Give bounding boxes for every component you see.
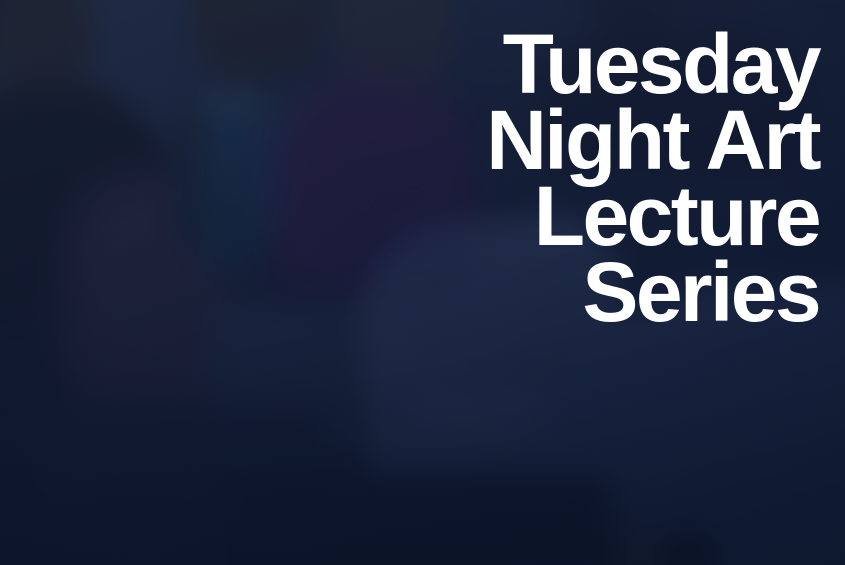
banner-headline: Tuesday Night Art Lecture Series bbox=[199, 26, 819, 330]
headline-line-1: Tuesday bbox=[199, 26, 819, 102]
headline-line-2: Night Art bbox=[199, 102, 819, 178]
headline-line-3: Lecture bbox=[199, 178, 819, 254]
lecture-series-banner: Tuesday Night Art Lecture Series bbox=[0, 0, 845, 565]
headline-line-4: Series bbox=[199, 254, 819, 330]
